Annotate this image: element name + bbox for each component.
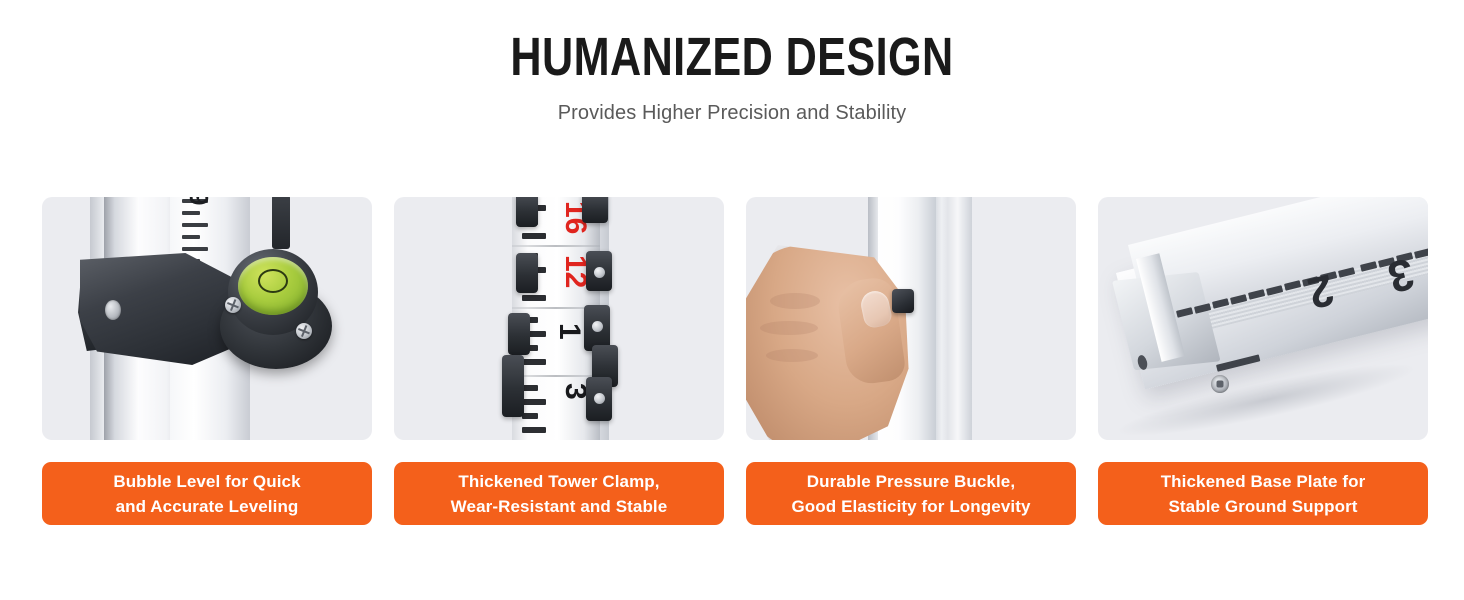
tower-clamp [582,197,608,223]
hand-crease [766,349,818,362]
feature-card-bubble-level: 9 Bubble Level for Quick and Accurate Le… [42,197,372,525]
tower-clamp [516,253,538,293]
caption-line-2: Wear-Resistant and Stable [451,494,668,519]
base-plate-bolt [1211,375,1229,393]
feature-card-tower-clamp: 16 12 1 3 Thickened Tower Clamp, Wea [394,197,724,525]
vial-center-ring [258,269,288,293]
page-subtitle: Provides Higher Precision and Stability [0,100,1464,126]
caption-pressure-buckle[interactable]: Durable Pressure Buckle, Good Elasticity… [746,462,1076,525]
vial-screw-top [225,297,241,313]
tower-clamp [508,313,530,355]
caption-bubble-level[interactable]: Bubble Level for Quick and Accurate Leve… [42,462,372,525]
hand-crease [760,321,818,335]
pressure-buckle [892,289,914,313]
page-title: HUMANIZED DESIGN [146,28,1317,86]
tower-clamp-photo: 16 12 1 3 [394,197,724,440]
base-plate-photo: 2 3 [1098,197,1428,440]
scale-number: 9 [183,197,214,205]
feature-banner: HUMANIZED DESIGN Provides Higher Precisi… [0,0,1464,600]
caption-line-1: Bubble Level for Quick [113,469,300,494]
vial-screw-bottom [296,323,312,339]
banner-header: HUMANIZED DESIGN Provides Higher Precisi… [0,0,1464,126]
rod-far-section [946,197,972,440]
pole-clip [272,197,290,249]
bubble-level-photo: 9 [42,197,372,440]
feature-card-base-plate: 2 3 Thickened Base Plate for Stable Grou… [1098,197,1428,525]
clamp-rivet [594,393,605,404]
clamp-rivet [594,267,605,278]
tower-clamp [516,197,538,227]
feature-card-pressure-buckle: Durable Pressure Buckle, Good Elasticity… [746,197,1076,525]
tower-clamp [502,355,524,417]
clamp-rivet [592,321,603,332]
caption-line-2: Stable Ground Support [1168,494,1357,519]
caption-line-1: Thickened Base Plate for [1161,469,1366,494]
pressure-buckle-photo [746,197,1076,440]
caption-line-1: Thickened Tower Clamp, [458,469,659,494]
feature-list: 9 Bubble Level for Quick and Accurate Le… [42,197,1423,525]
caption-line-2: Good Elasticity for Longevity [791,494,1030,519]
caption-line-1: Durable Pressure Buckle, [807,469,1015,494]
bracket-stud [105,300,121,320]
hand-crease [770,293,820,309]
caption-tower-clamp[interactable]: Thickened Tower Clamp, Wear-Resistant an… [394,462,724,525]
caption-base-plate[interactable]: Thickened Base Plate for Stable Ground S… [1098,462,1428,525]
rod-section-seam [512,245,600,247]
caption-line-2: and Accurate Leveling [116,494,299,519]
scale-number: 1 [554,323,584,340]
